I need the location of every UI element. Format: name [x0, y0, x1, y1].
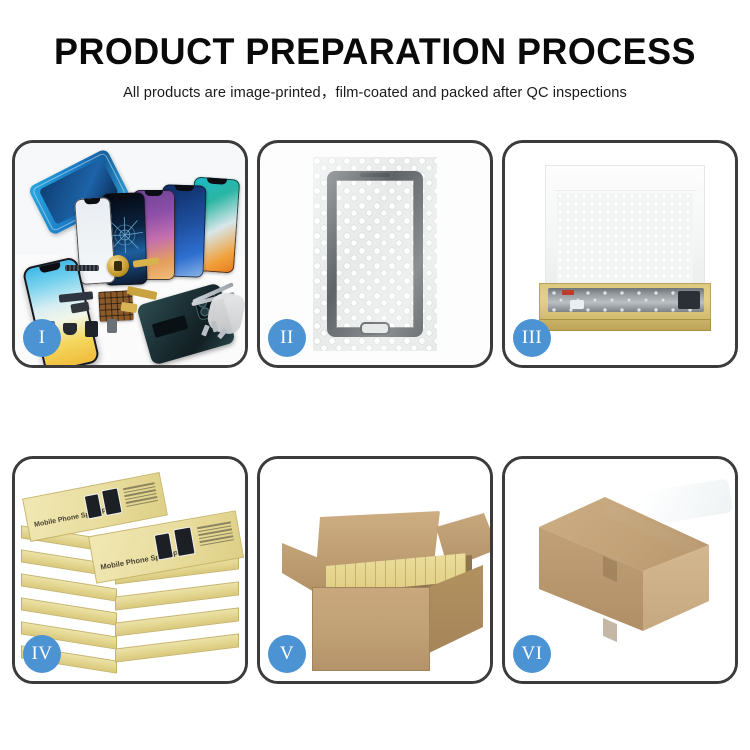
notch-icon — [207, 177, 228, 184]
step-badge-1: I — [23, 319, 61, 357]
process-step-2: II — [257, 140, 493, 368]
process-step-6: VI — [502, 456, 738, 684]
box-spec-lines — [123, 482, 158, 507]
notch-icon — [145, 190, 163, 196]
box-layer — [115, 607, 239, 636]
white-label-sticker — [570, 300, 584, 309]
box-product-thumbnail — [173, 526, 196, 557]
process-step-3: III — [502, 140, 738, 368]
step-badge-6: VI — [513, 635, 551, 673]
box-front-flap — [539, 319, 711, 331]
notch-icon — [113, 193, 132, 200]
box-product-thumbnail — [101, 487, 123, 516]
carton-seam — [603, 618, 617, 642]
foam-insert — [557, 193, 693, 285]
step-badge-5: V — [268, 635, 306, 673]
kraft-box-tray — [539, 283, 711, 323]
dark-connector-end — [678, 291, 700, 309]
box-layer — [115, 633, 239, 662]
screws-group — [203, 321, 231, 345]
small-component-part — [107, 319, 117, 333]
step-badge-3: III — [513, 319, 551, 357]
wrapped-screen-in-tray — [548, 288, 704, 312]
page-header: PRODUCT PREPARATION PROCESS All products… — [0, 0, 750, 102]
red-label-sticker — [562, 290, 574, 295]
box-layer — [115, 581, 239, 610]
small-component-part — [85, 321, 98, 337]
box-product-thumbnail — [154, 532, 174, 560]
box-spec-lines — [197, 521, 234, 546]
notch-icon — [39, 262, 61, 273]
bubble-wrap-sheet — [313, 157, 437, 351]
step-badge-4: IV — [23, 635, 61, 673]
speaker-module-part — [107, 255, 129, 277]
process-step-grid: I II — [12, 140, 738, 684]
step-badge-2: II — [268, 319, 306, 357]
notch-icon — [175, 185, 195, 192]
process-step-1: I — [12, 140, 248, 368]
plastic-sheen — [313, 157, 437, 351]
carton-front-face — [312, 587, 430, 671]
page-title: PRODUCT PREPARATION PROCESS — [11, 0, 739, 72]
notch-icon — [84, 198, 100, 205]
mainboard-chip — [152, 315, 189, 338]
process-step-4: Mobile Phone Spare Parts Mobile Phone Sp… — [12, 456, 248, 684]
page-subtitle: All products are image-printed，film-coat… — [0, 72, 750, 102]
small-component-part — [63, 323, 77, 335]
process-step-5: V — [257, 456, 493, 684]
background-glare — [643, 478, 733, 525]
connector-bar-part — [65, 265, 99, 271]
box-product-thumbnail — [84, 493, 103, 519]
box-layer — [21, 597, 117, 625]
